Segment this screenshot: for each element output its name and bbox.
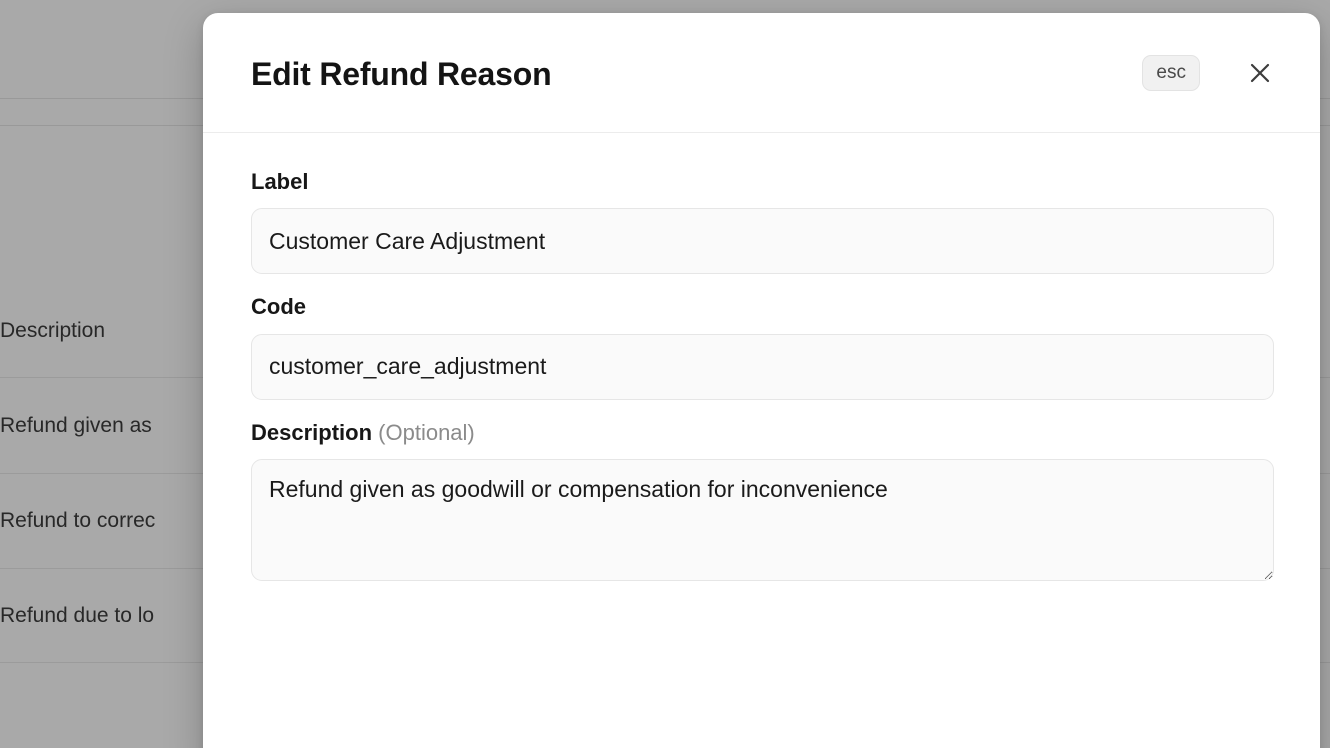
description-field-label: Description (Optional) (251, 420, 1272, 446)
label-field-label: Label (251, 169, 1272, 195)
label-input[interactable] (251, 208, 1274, 274)
description-label-text: Description (251, 420, 372, 445)
dialog-body: Label Code Description (Optional) (203, 133, 1320, 581)
field-description-group: Description (Optional) (251, 420, 1272, 581)
close-button[interactable] (1242, 55, 1278, 91)
field-code-group: Code (251, 294, 1272, 399)
description-optional-text: (Optional) (378, 420, 475, 445)
field-label-group: Label (251, 169, 1272, 274)
dialog-header: Edit Refund Reason esc (203, 13, 1320, 133)
edit-refund-reason-dialog: Edit Refund Reason esc Label Code (203, 13, 1320, 748)
description-textarea[interactable] (251, 459, 1274, 581)
screen: Description Refund given as Refund to co… (0, 0, 1330, 748)
code-input[interactable] (251, 334, 1274, 400)
code-field-label: Code (251, 294, 1272, 320)
dialog-title: Edit Refund Reason (251, 55, 551, 93)
close-icon (1247, 60, 1273, 86)
esc-key-badge[interactable]: esc (1142, 55, 1200, 91)
